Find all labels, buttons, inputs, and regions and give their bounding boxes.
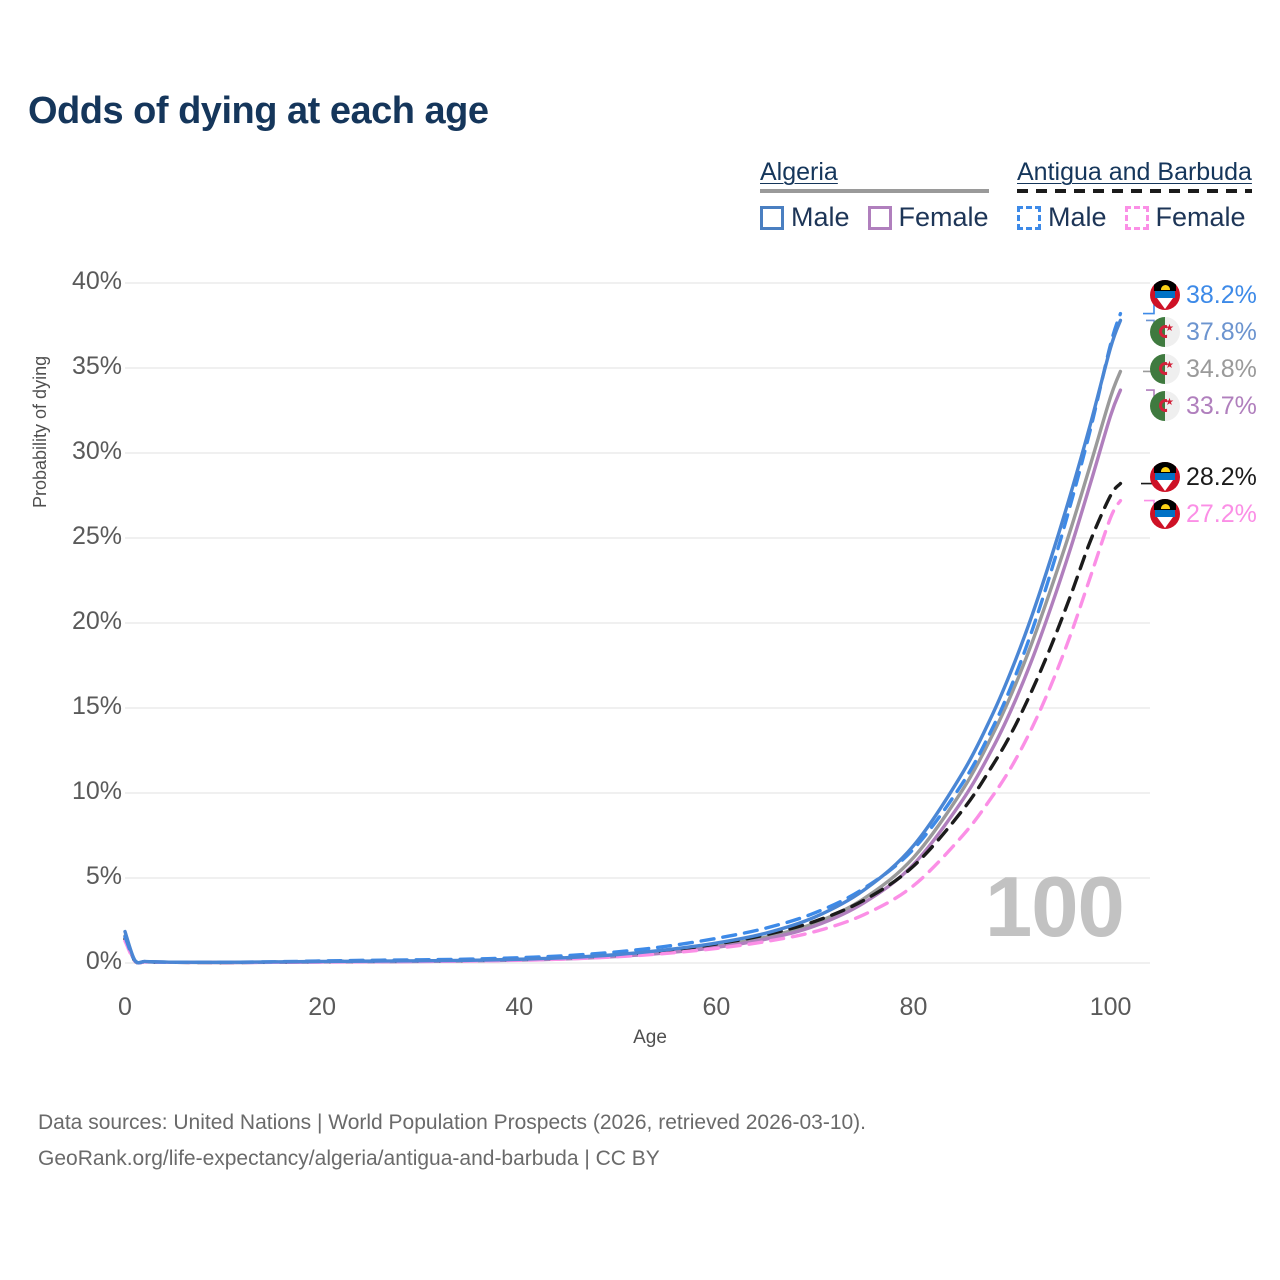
legend-swatch-icon bbox=[868, 206, 892, 230]
x-axis-tick-label: 60 bbox=[656, 993, 776, 1022]
legend-swatch-icon bbox=[760, 206, 784, 230]
x-axis-tick-label: 0 bbox=[65, 993, 185, 1022]
y-axis-tick-label: 30% bbox=[22, 437, 122, 466]
y-axis-tick-label: 40% bbox=[22, 267, 122, 296]
legend-swatch-icon bbox=[1017, 206, 1041, 230]
footer-data-sources: Data sources: United Nations | World Pop… bbox=[38, 1105, 866, 1141]
series-line bbox=[125, 371, 1120, 962]
legend-item-antigua-male[interactable]: Male bbox=[1017, 202, 1107, 233]
series-end-label: 28.2% bbox=[1150, 462, 1257, 492]
legend-country-name: Antigua and Barbuda bbox=[1017, 158, 1252, 186]
x-axis-tick-label: 40 bbox=[459, 993, 579, 1022]
page-title: Odds of dying at each age bbox=[28, 90, 488, 133]
ag-white-part bbox=[1157, 298, 1173, 309]
legend-country-name: Algeria bbox=[760, 158, 989, 186]
legend-swatch-icon bbox=[1125, 206, 1149, 230]
ag-blue-part bbox=[1155, 473, 1175, 480]
series-end-value: 28.2% bbox=[1186, 463, 1257, 492]
antigua-and-barbuda-flag-icon bbox=[1150, 499, 1180, 529]
series-line bbox=[125, 390, 1120, 963]
x-axis-tick-label: 20 bbox=[262, 993, 382, 1022]
y-axis-tick-label: 0% bbox=[22, 947, 122, 976]
series-end-value: 33.7% bbox=[1186, 392, 1257, 421]
series-end-label: 33.7% bbox=[1150, 391, 1257, 421]
series-end-label: 34.8% bbox=[1150, 354, 1257, 384]
antigua-and-barbuda-flag-icon bbox=[1150, 462, 1180, 492]
series-end-value: 27.2% bbox=[1186, 500, 1257, 529]
ag-white-part bbox=[1157, 480, 1173, 491]
series-end-label: 38.2% bbox=[1150, 280, 1257, 310]
legend-group-algeria: Algeria Male Female bbox=[760, 158, 989, 233]
ag-white-part bbox=[1157, 517, 1173, 528]
ag-sun-part bbox=[1161, 285, 1170, 290]
ag-sun-part bbox=[1161, 467, 1170, 472]
legend-rule-solid bbox=[760, 189, 989, 193]
y-axis-tick-label: 25% bbox=[22, 522, 122, 551]
legend-item-algeria-female[interactable]: Female bbox=[868, 202, 989, 233]
algeria-flag-icon bbox=[1150, 354, 1180, 384]
y-axis-tick-label: 5% bbox=[22, 862, 122, 891]
legend-item-label: Female bbox=[899, 202, 989, 233]
x-axis-title: Age bbox=[0, 1027, 1280, 1049]
legend-item-label: Male bbox=[1048, 202, 1107, 233]
ag-blue-part bbox=[1155, 510, 1175, 517]
y-axis-tick-label: 20% bbox=[22, 607, 122, 636]
x-axis-tick-label: 100 bbox=[1051, 993, 1171, 1022]
series-line bbox=[125, 501, 1120, 963]
series-end-label: 27.2% bbox=[1150, 499, 1257, 529]
footer: Data sources: United Nations | World Pop… bbox=[38, 1105, 866, 1177]
series-line bbox=[125, 314, 1120, 963]
series-line bbox=[125, 320, 1120, 962]
ag-blue-part bbox=[1155, 291, 1175, 298]
chart-container: Odds of dying at each age Algeria Male F… bbox=[0, 0, 1280, 1280]
y-axis-tick-label: 15% bbox=[22, 692, 122, 721]
antigua-and-barbuda-flag-icon bbox=[1150, 280, 1180, 310]
series-line bbox=[125, 484, 1120, 963]
legend-item-label: Male bbox=[791, 202, 850, 233]
legend-rule-dashed bbox=[1017, 189, 1252, 193]
ag-sun-part bbox=[1161, 504, 1170, 509]
series-end-value: 38.2% bbox=[1186, 281, 1257, 310]
algeria-flag-icon bbox=[1150, 317, 1180, 347]
watermark-age: 100 bbox=[985, 865, 1124, 950]
series-end-value: 34.8% bbox=[1186, 355, 1257, 384]
x-axis-title-text: Age bbox=[633, 1027, 667, 1048]
legend-item-algeria-male[interactable]: Male bbox=[760, 202, 850, 233]
y-axis-tick-label: 35% bbox=[22, 352, 122, 381]
series-end-labels: 38.2%37.8%34.8%33.7%28.2%27.2% bbox=[1150, 270, 1280, 550]
x-axis-tick-label: 80 bbox=[853, 993, 973, 1022]
legend-group-antigua-and-barbuda: Antigua and Barbuda Male Female bbox=[1017, 158, 1252, 233]
chart-legend: Algeria Male Female Antigua and Barbuda bbox=[755, 158, 1260, 248]
y-axis-tick-label: 10% bbox=[22, 777, 122, 806]
legend-item-antigua-female[interactable]: Female bbox=[1125, 202, 1246, 233]
series-end-label: 37.8% bbox=[1150, 317, 1257, 347]
legend-item-label: Female bbox=[1156, 202, 1246, 233]
algeria-flag-icon bbox=[1150, 391, 1180, 421]
footer-attribution: GeoRank.org/life-expectancy/algeria/anti… bbox=[38, 1141, 866, 1177]
series-end-value: 37.8% bbox=[1186, 318, 1257, 347]
